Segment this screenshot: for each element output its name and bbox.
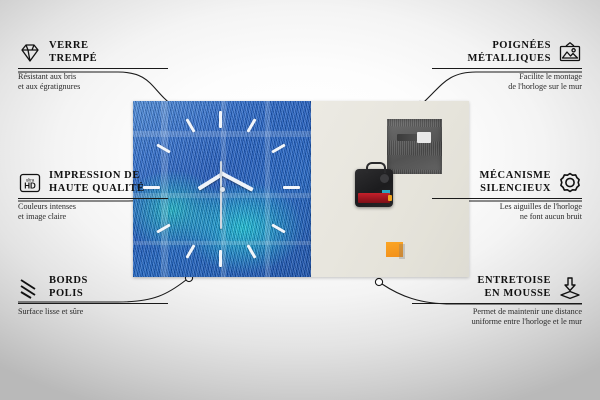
feature-title-line2: HAUTE QUALITÉ [49, 183, 145, 196]
ultra-hd-badge-icon: ultra HD [18, 171, 42, 195]
metal-hanger-plate [387, 119, 442, 174]
wall-mount-frame-icon [558, 41, 582, 65]
feature-title-line1: IMPRESSION DE [49, 170, 145, 183]
feature-desc-line1: Couleurs intenses [18, 202, 168, 212]
gear-icon [558, 171, 582, 195]
feature-desc-line2: uniforme entre l'horloge et le mur [412, 317, 582, 327]
feature-rule [412, 303, 582, 304]
feature-title-line1: MÉCANISME [432, 170, 551, 183]
feature-title-line2: EN MOUSSE [412, 288, 551, 301]
feature-title-line2: TREMPÉ [49, 53, 97, 66]
feature-title-line1: POIGNÉES [432, 40, 551, 53]
feature-desc-line1: Surface lisse et sûre [18, 307, 168, 317]
feature-title-line1: VERRE [49, 40, 97, 53]
feature-entretoise-en-mousse: ENTRETOISE EN MOUSSE Permet de maintenir… [412, 275, 582, 327]
foam-spacer-arrow-icon [558, 276, 582, 300]
feature-mecanisme-silencieux: MÉCANISME SILENCIEUX Les aiguilles de l'… [432, 170, 582, 222]
feature-rule [432, 198, 582, 199]
feature-desc-line1: Permet de maintenir une distance [412, 307, 582, 317]
feature-rule [18, 68, 168, 69]
feature-impression-haute-qualite: ultra HD IMPRESSION DE HAUTE QUALITÉ Cou… [18, 170, 168, 222]
feature-title-line2: MÉTALLIQUES [432, 53, 551, 66]
quartz-clock-mechanism [355, 169, 393, 207]
feature-bords-polis: BORDS POLIS Surface lisse et sûre [18, 275, 168, 317]
clock-hand-hub [220, 187, 225, 192]
feature-desc-line1: Résistant aux bris [18, 72, 168, 82]
feature-title-line2: POLIS [49, 288, 88, 301]
feature-title-line1: BORDS [49, 275, 88, 288]
infographic-canvas: VERRE TREMPÉ Résistant aux bris et aux é… [0, 0, 600, 400]
feature-desc-line2: et aux égratignures [18, 82, 168, 92]
feature-rule [18, 303, 168, 304]
feature-rule [432, 68, 582, 69]
feature-desc-line2: de l'horloge sur le mur [432, 82, 582, 92]
feature-verre-trempe: VERRE TREMPÉ Résistant aux bris et aux é… [18, 40, 168, 92]
clock-hand-second [220, 161, 222, 229]
feature-title-line2: SILENCIEUX [432, 183, 551, 196]
feature-desc-line1: Les aiguilles de l'horloge [432, 202, 582, 212]
svg-text:HD: HD [24, 181, 36, 190]
polished-edges-icon [18, 276, 42, 300]
feature-desc-line1: Facilite le montage [432, 72, 582, 82]
feature-desc-line2: et image claire [18, 212, 168, 222]
feature-title-line1: ENTRETOISE [412, 275, 551, 288]
feature-desc-line2: ne font aucun bruit [432, 212, 582, 222]
diamond-icon [18, 41, 42, 65]
product-image [133, 101, 469, 277]
feature-poignees-metalliques: POIGNÉES MÉTALLIQUES Facilite le montage… [432, 40, 582, 92]
orange-foam-spacer [386, 242, 403, 257]
feature-rule [18, 198, 168, 199]
